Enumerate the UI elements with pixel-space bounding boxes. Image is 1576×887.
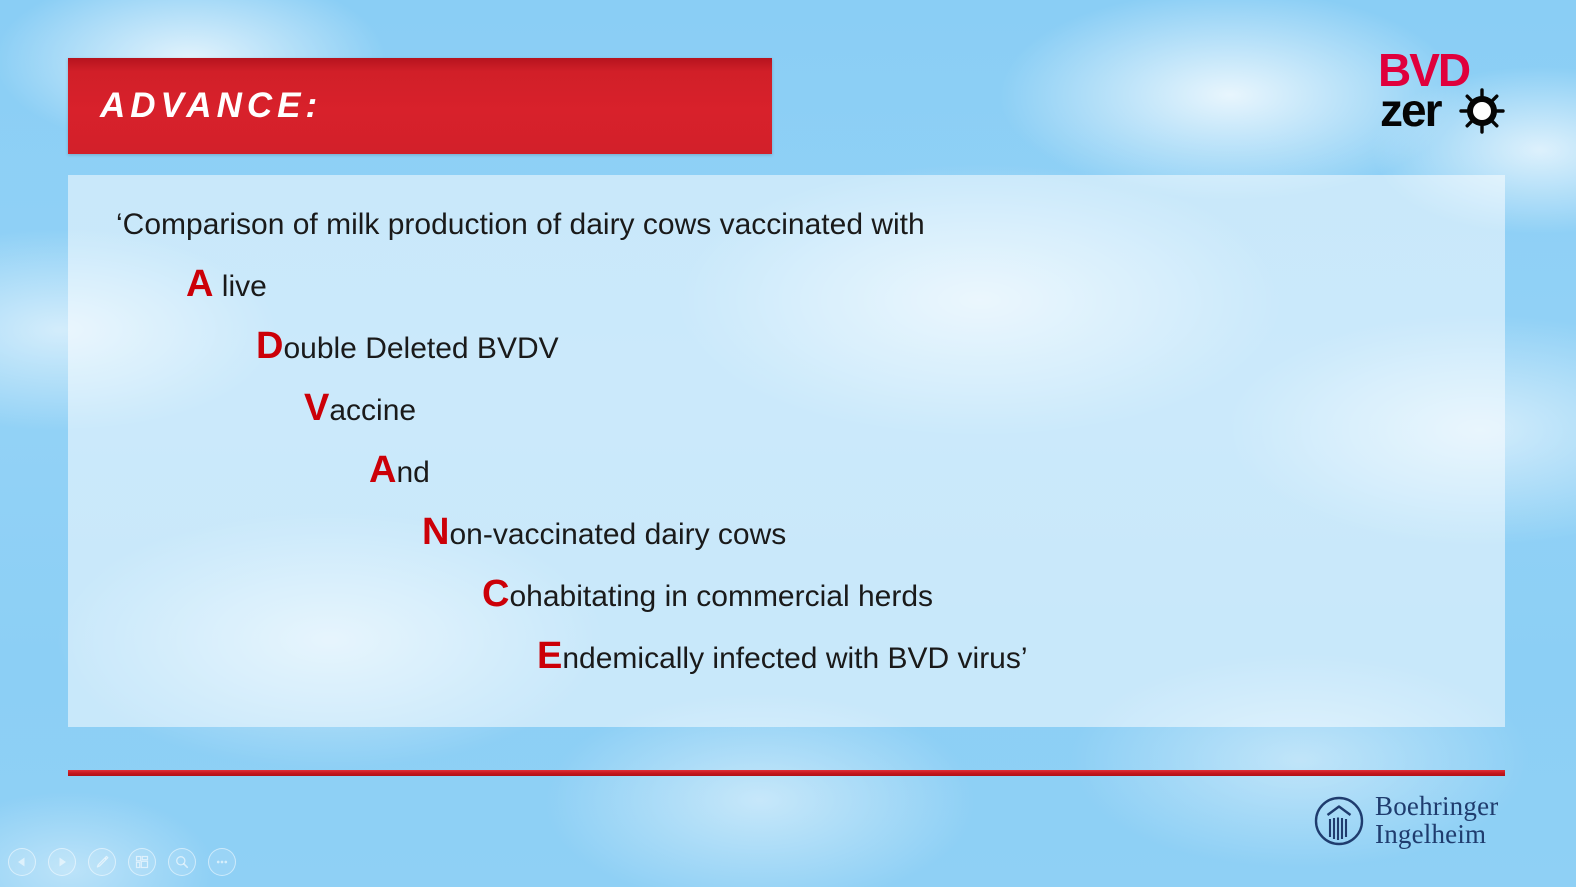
acrostic-text: ouble Deleted BVDV xyxy=(283,332,558,365)
content-panel: ‘Comparison of milk production of dairy … xyxy=(68,175,1505,727)
presentation-slide: ADVANCE: BVD zer xyxy=(0,0,1576,887)
acrostic-text: live xyxy=(213,270,266,303)
acrostic-text: ohabitating in commercial herds xyxy=(509,580,933,613)
acrostic-capital: V xyxy=(304,387,329,429)
bi-line1: Boehringer xyxy=(1375,793,1498,821)
acrostic-line: Vaccine xyxy=(304,389,416,427)
pen-tool-button[interactable] xyxy=(88,848,116,876)
acrostic-text: nd xyxy=(396,456,429,489)
ellipsis-icon xyxy=(214,854,230,870)
acrostic-line: Cohabitating in commercial herds xyxy=(482,575,933,613)
acrostic-line: A live xyxy=(186,265,267,303)
boehringer-ingelheim-logo: Boehringer Ingelheim xyxy=(1313,790,1505,852)
acrostic-line: Non-vaccinated dairy cows xyxy=(422,513,786,551)
virus-spiky-circle-icon xyxy=(1461,90,1503,132)
bvd-logo-bottom-word: zer xyxy=(1380,84,1443,134)
acrostic-text: ‘Comparison of milk production of dairy … xyxy=(116,208,925,241)
magnifier-icon xyxy=(174,854,190,870)
acrostic-capital: E xyxy=(537,635,562,677)
title-banner: ADVANCE: xyxy=(68,58,772,154)
next-slide-button[interactable] xyxy=(48,848,76,876)
pen-icon xyxy=(94,854,110,870)
bvd-zero-logo: BVD zer xyxy=(1378,42,1506,134)
triangle-right-icon xyxy=(55,855,69,869)
more-options-button[interactable] xyxy=(208,848,236,876)
acrostic-capital: A xyxy=(369,449,396,491)
bi-line2: Ingelheim xyxy=(1375,821,1498,849)
acrostic-capital: D xyxy=(256,325,283,367)
previous-slide-button[interactable] xyxy=(8,848,36,876)
acrostic-line: And xyxy=(369,451,430,489)
acrostic-text: accine xyxy=(329,394,416,427)
boehringer-ingelheim-wordmark: Boehringer Ingelheim xyxy=(1375,793,1498,848)
acrostic-line: Double Deleted BVDV xyxy=(256,327,559,365)
acrostic-text: on-vaccinated dairy cows xyxy=(449,518,786,551)
zoom-button[interactable] xyxy=(168,848,196,876)
acrostic-capital: N xyxy=(422,511,449,553)
presentation-control-bar xyxy=(8,848,236,876)
triangle-left-icon xyxy=(15,855,29,869)
page-title: ADVANCE: xyxy=(68,86,322,126)
slide-grid-button[interactable] xyxy=(128,848,156,876)
acrostic-line: Endemically infected with BVD virus’ xyxy=(537,637,1028,675)
acrostic-text: ndemically infected with BVD virus’ xyxy=(562,642,1027,675)
bvd-zero-logo-svg: BVD zer xyxy=(1378,42,1506,134)
acrostic-capital: C xyxy=(482,573,509,615)
boehringer-ingelheim-emblem-icon xyxy=(1313,795,1365,847)
footer-divider xyxy=(68,770,1505,776)
acrostic-line: ‘Comparison of milk production of dairy … xyxy=(116,203,925,241)
acrostic-capital: A xyxy=(186,263,213,305)
grid-slides-icon xyxy=(134,854,150,870)
